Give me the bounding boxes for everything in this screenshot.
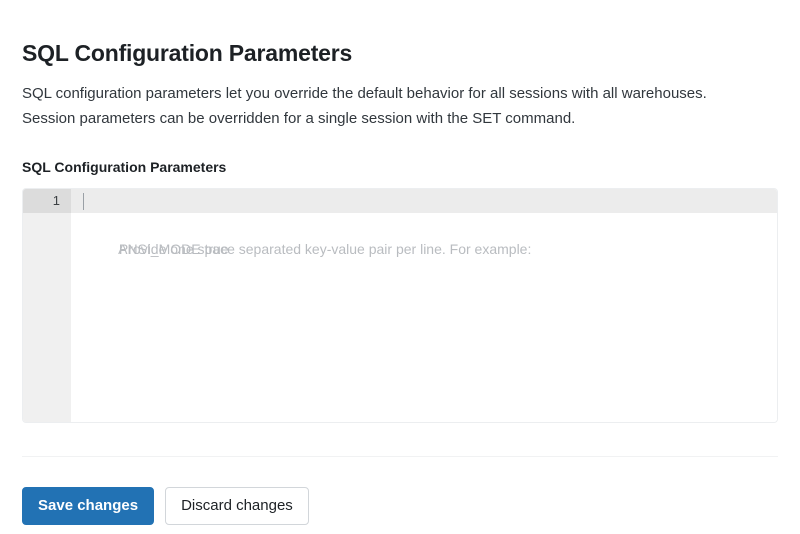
placeholder-line-2-text: ANSI_MODE true [118,241,228,257]
page-title: SQL Configuration Parameters [22,0,778,68]
discard-changes-button[interactable]: Discard changes [165,487,309,525]
page-description: SQL configuration parameters let you ove… [22,68,778,131]
sql-configuration-parameters-label: SQL Configuration Parameters [22,131,778,177]
save-changes-button[interactable]: Save changes [22,487,154,525]
form-actions: Save changes Discard changes [22,457,778,525]
editor-placeholder: Provide one space separated key-value pa… [71,189,777,237]
sql-parameters-code-editor[interactable]: 1 Provide one space separated key-value … [22,188,778,423]
sql-configuration-parameters-page: SQL Configuration Parameters SQL configu… [0,0,800,534]
editor-text-area[interactable]: Provide one space separated key-value pa… [71,189,777,422]
placeholder-line-1: Provide one space separated key-value pa… [80,189,777,213]
placeholder-line-2: ANSI_MODE true [80,213,777,237]
page-description-line-1: SQL configuration parameters let you ove… [22,81,778,106]
page-description-line-2: Session parameters can be overridden for… [22,106,778,131]
editor-line-number-gutter: 1 [23,189,71,422]
line-number-1: 1 [23,189,71,213]
text-cursor-caret [83,193,84,210]
